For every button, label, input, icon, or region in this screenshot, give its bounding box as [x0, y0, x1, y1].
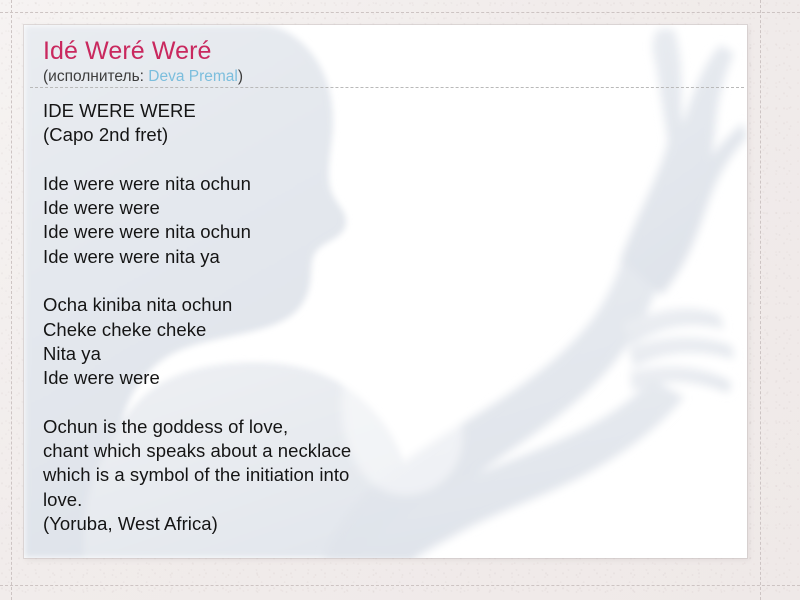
lyric-line: Cheke cheke cheke: [43, 318, 643, 342]
lyric-line: which is a symbol of the initiation into: [43, 463, 643, 487]
lyric-stanza-verse-two: Ocha kiniba nita ochun Cheke cheke cheke…: [43, 293, 643, 390]
presentation-slide: Idé Weré Weré (исполнитель: Deva Premal)…: [24, 25, 747, 558]
lyric-line: (Yoruba, West Africa): [43, 512, 643, 536]
lyrics-body: IDE WERE WERE (Capo 2nd fret) Ide were w…: [43, 99, 643, 536]
lyric-line: Ide were were nita ochun: [43, 220, 643, 244]
lyric-stanza-verse-one: Ide were were nita ochun Ide were were I…: [43, 172, 643, 269]
performer-link[interactable]: Deva Premal: [148, 68, 238, 85]
lyric-line: IDE WERE WERE: [43, 99, 643, 123]
lyric-line: Ide were were: [43, 196, 643, 220]
performer-credit: (исполнитель: Deva Premal): [43, 68, 723, 87]
page-title: Idé Weré Weré: [43, 37, 723, 65]
lyric-line: Ide were were nita ya: [43, 245, 643, 269]
lyric-line: chant which speaks about a necklace: [43, 439, 643, 463]
lyric-line: (Capo 2nd fret): [43, 123, 643, 147]
lyric-stanza-translation-note: Ochun is the goddess of love, chant whic…: [43, 415, 643, 536]
performer-closing-paren: ): [238, 68, 243, 85]
lyric-line: Nita ya: [43, 342, 643, 366]
lyric-stanza-heading: IDE WERE WERE (Capo 2nd fret): [43, 99, 643, 148]
lyric-line: love.: [43, 488, 643, 512]
title-divider: [30, 87, 744, 88]
lyric-line: Ide were were: [43, 366, 643, 390]
title-block: Idé Weré Weré (исполнитель: Deva Premal): [43, 37, 723, 87]
lyric-line: Ochun is the goddess of love,: [43, 415, 643, 439]
performer-label: (исполнитель:: [43, 68, 148, 85]
lyric-line: Ide were were nita ochun: [43, 172, 643, 196]
lyric-line: Ocha kiniba nita ochun: [43, 293, 643, 317]
